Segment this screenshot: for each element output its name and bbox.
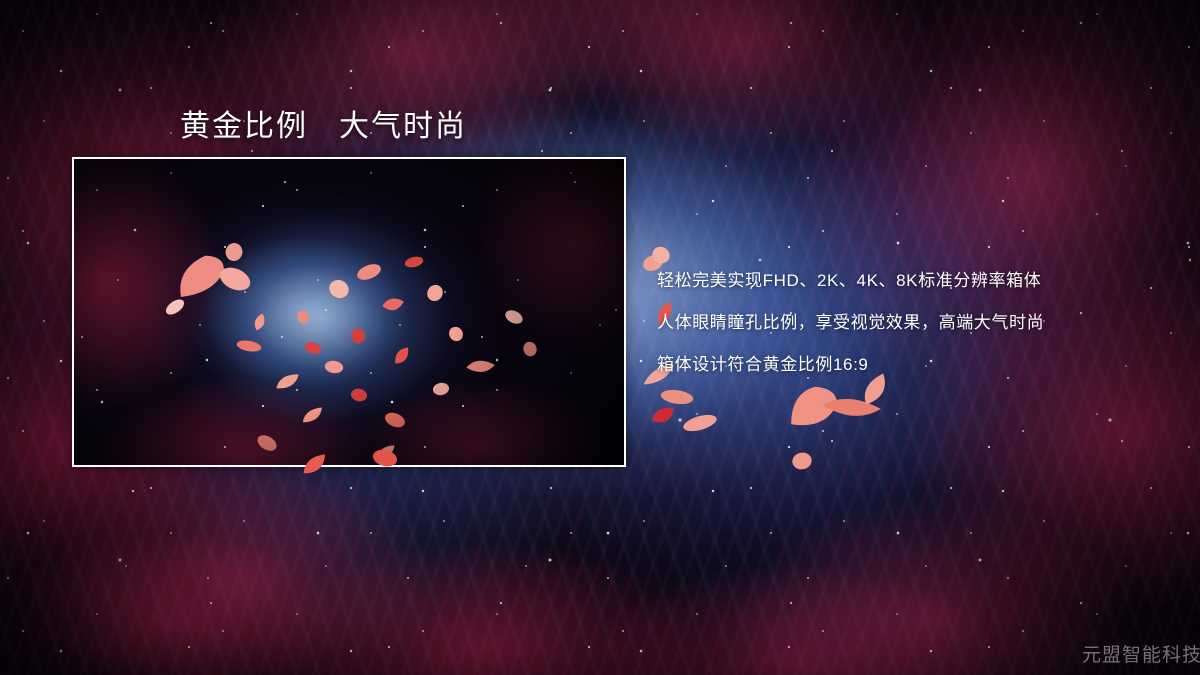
slide-canvas: 黄金比例 大气时尚 轻松完美实现FHD、2K、4K、8K标准分辨率箱体 人体眼睛…: [0, 0, 1200, 675]
watermark: 元盟智能科技: [1082, 640, 1200, 667]
petal-icon: [646, 400, 680, 432]
panel-vignette: [74, 159, 624, 465]
petal-icon: [680, 409, 720, 436]
body-line-2: 人体眼睛瞳孔比例，享受视觉效果，高端大气时尚: [657, 302, 1177, 344]
body-text-block: 轻松完美实现FHD、2K、4K、8K标准分辨率箱体 人体眼睛瞳孔比例，享受视觉效…: [657, 260, 1177, 386]
petal-icon: [659, 386, 695, 409]
body-line-1: 轻松完美实现FHD、2K、4K、8K标准分辨率箱体: [657, 260, 1177, 302]
body-line-3: 箱体设计符合黄金比例16:9: [657, 344, 1177, 386]
petal-icon: [788, 448, 816, 475]
panel-inner: [74, 159, 624, 465]
petal-icon: [819, 383, 885, 430]
nebula-photo-frame: [72, 157, 626, 467]
page-title: 黄金比例 大气时尚: [180, 101, 467, 145]
